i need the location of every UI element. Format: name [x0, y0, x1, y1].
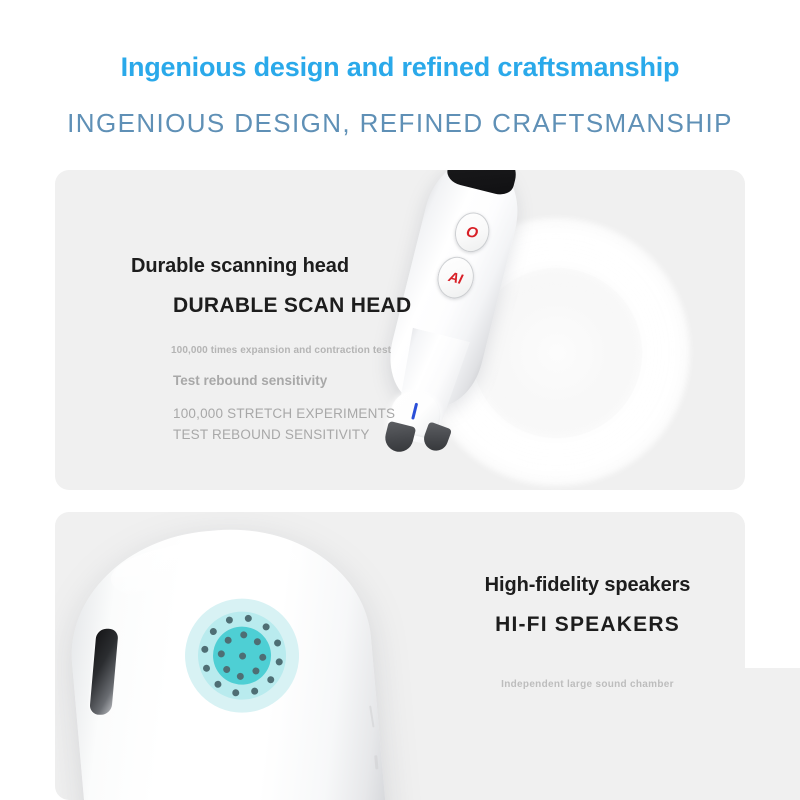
- speaker-grille-dot: [240, 631, 248, 639]
- feature-card-scanning-head: O AI Durable scanning head DURABLE SCAN …: [55, 170, 745, 490]
- speaker-grille-dot: [274, 639, 282, 647]
- speakers-text-block: High-fidelity speakers HI-FI SPEAKERS In…: [430, 574, 745, 690]
- speaker-grille-dot: [224, 636, 232, 644]
- speaker-grille-dot: [238, 652, 246, 660]
- speaker-grille-dot: [225, 616, 233, 624]
- speaker-grille-dot: [251, 688, 259, 696]
- speaker-grille-dot: [232, 689, 240, 697]
- scan-head-title-primary: Durable scanning head: [131, 255, 435, 278]
- speakers-title-primary: High-fidelity speakers: [430, 574, 745, 597]
- page-subheadline: INGENIOUS DESIGN, REFINED CRAFTSMANSHIP: [0, 108, 800, 139]
- speaker-grille-dot: [263, 623, 271, 631]
- speaker-grille-dot: [276, 658, 284, 666]
- speaker-grille-dot: [267, 676, 275, 684]
- speaker-grille-dot: [252, 668, 260, 676]
- speaker-grille-dot: [237, 673, 245, 681]
- speaker-grille-dot: [217, 650, 225, 658]
- speaker-grille-dot: [259, 653, 267, 661]
- product-feature-page: Ingenious design and refined craftsmansh…: [0, 0, 800, 800]
- scan-head-detail-rebound: Test rebound sensitivity: [173, 373, 435, 388]
- scan-head-title-secondary: DURABLE SCAN HEAD: [173, 294, 435, 318]
- speaker-grille-dot: [201, 645, 209, 653]
- speaker-grille-dot: [245, 614, 253, 622]
- speaker-device-illustration: [55, 512, 419, 800]
- feature-card-speakers: High-fidelity speakers HI-FI SPEAKERS In…: [55, 512, 745, 800]
- speakers-title-secondary: HI-FI SPEAKERS: [430, 613, 745, 637]
- scan-head-detail-en-line-1: 100,000 STRETCH EXPERIMENTS: [173, 404, 435, 425]
- scan-head-detail-en-block: 100,000 STRETCH EXPERIMENTS TEST REBOUND…: [173, 404, 435, 446]
- scan-head-text-block: Durable scanning head DURABLE SCAN HEAD …: [75, 255, 435, 446]
- page-headline: Ingenious design and refined craftsmansh…: [0, 52, 800, 83]
- speakers-detail-sound-chamber: Independent large sound chamber: [430, 679, 745, 690]
- speakers-card-extension: [745, 668, 800, 800]
- speaker-grille-dot: [222, 666, 230, 674]
- speaker-grille-dot: [254, 638, 262, 646]
- speaker-grille-dot: [214, 681, 222, 689]
- speaker-grille-dot: [209, 627, 217, 635]
- scan-head-detail-expansion-test: 100,000 times expansion and contraction …: [171, 345, 435, 356]
- speaker-grille-icon: [180, 594, 304, 718]
- scan-head-detail-en-line-2: TEST REBOUND SENSITIVITY: [173, 425, 435, 446]
- speaker-grille-dot: [203, 665, 211, 673]
